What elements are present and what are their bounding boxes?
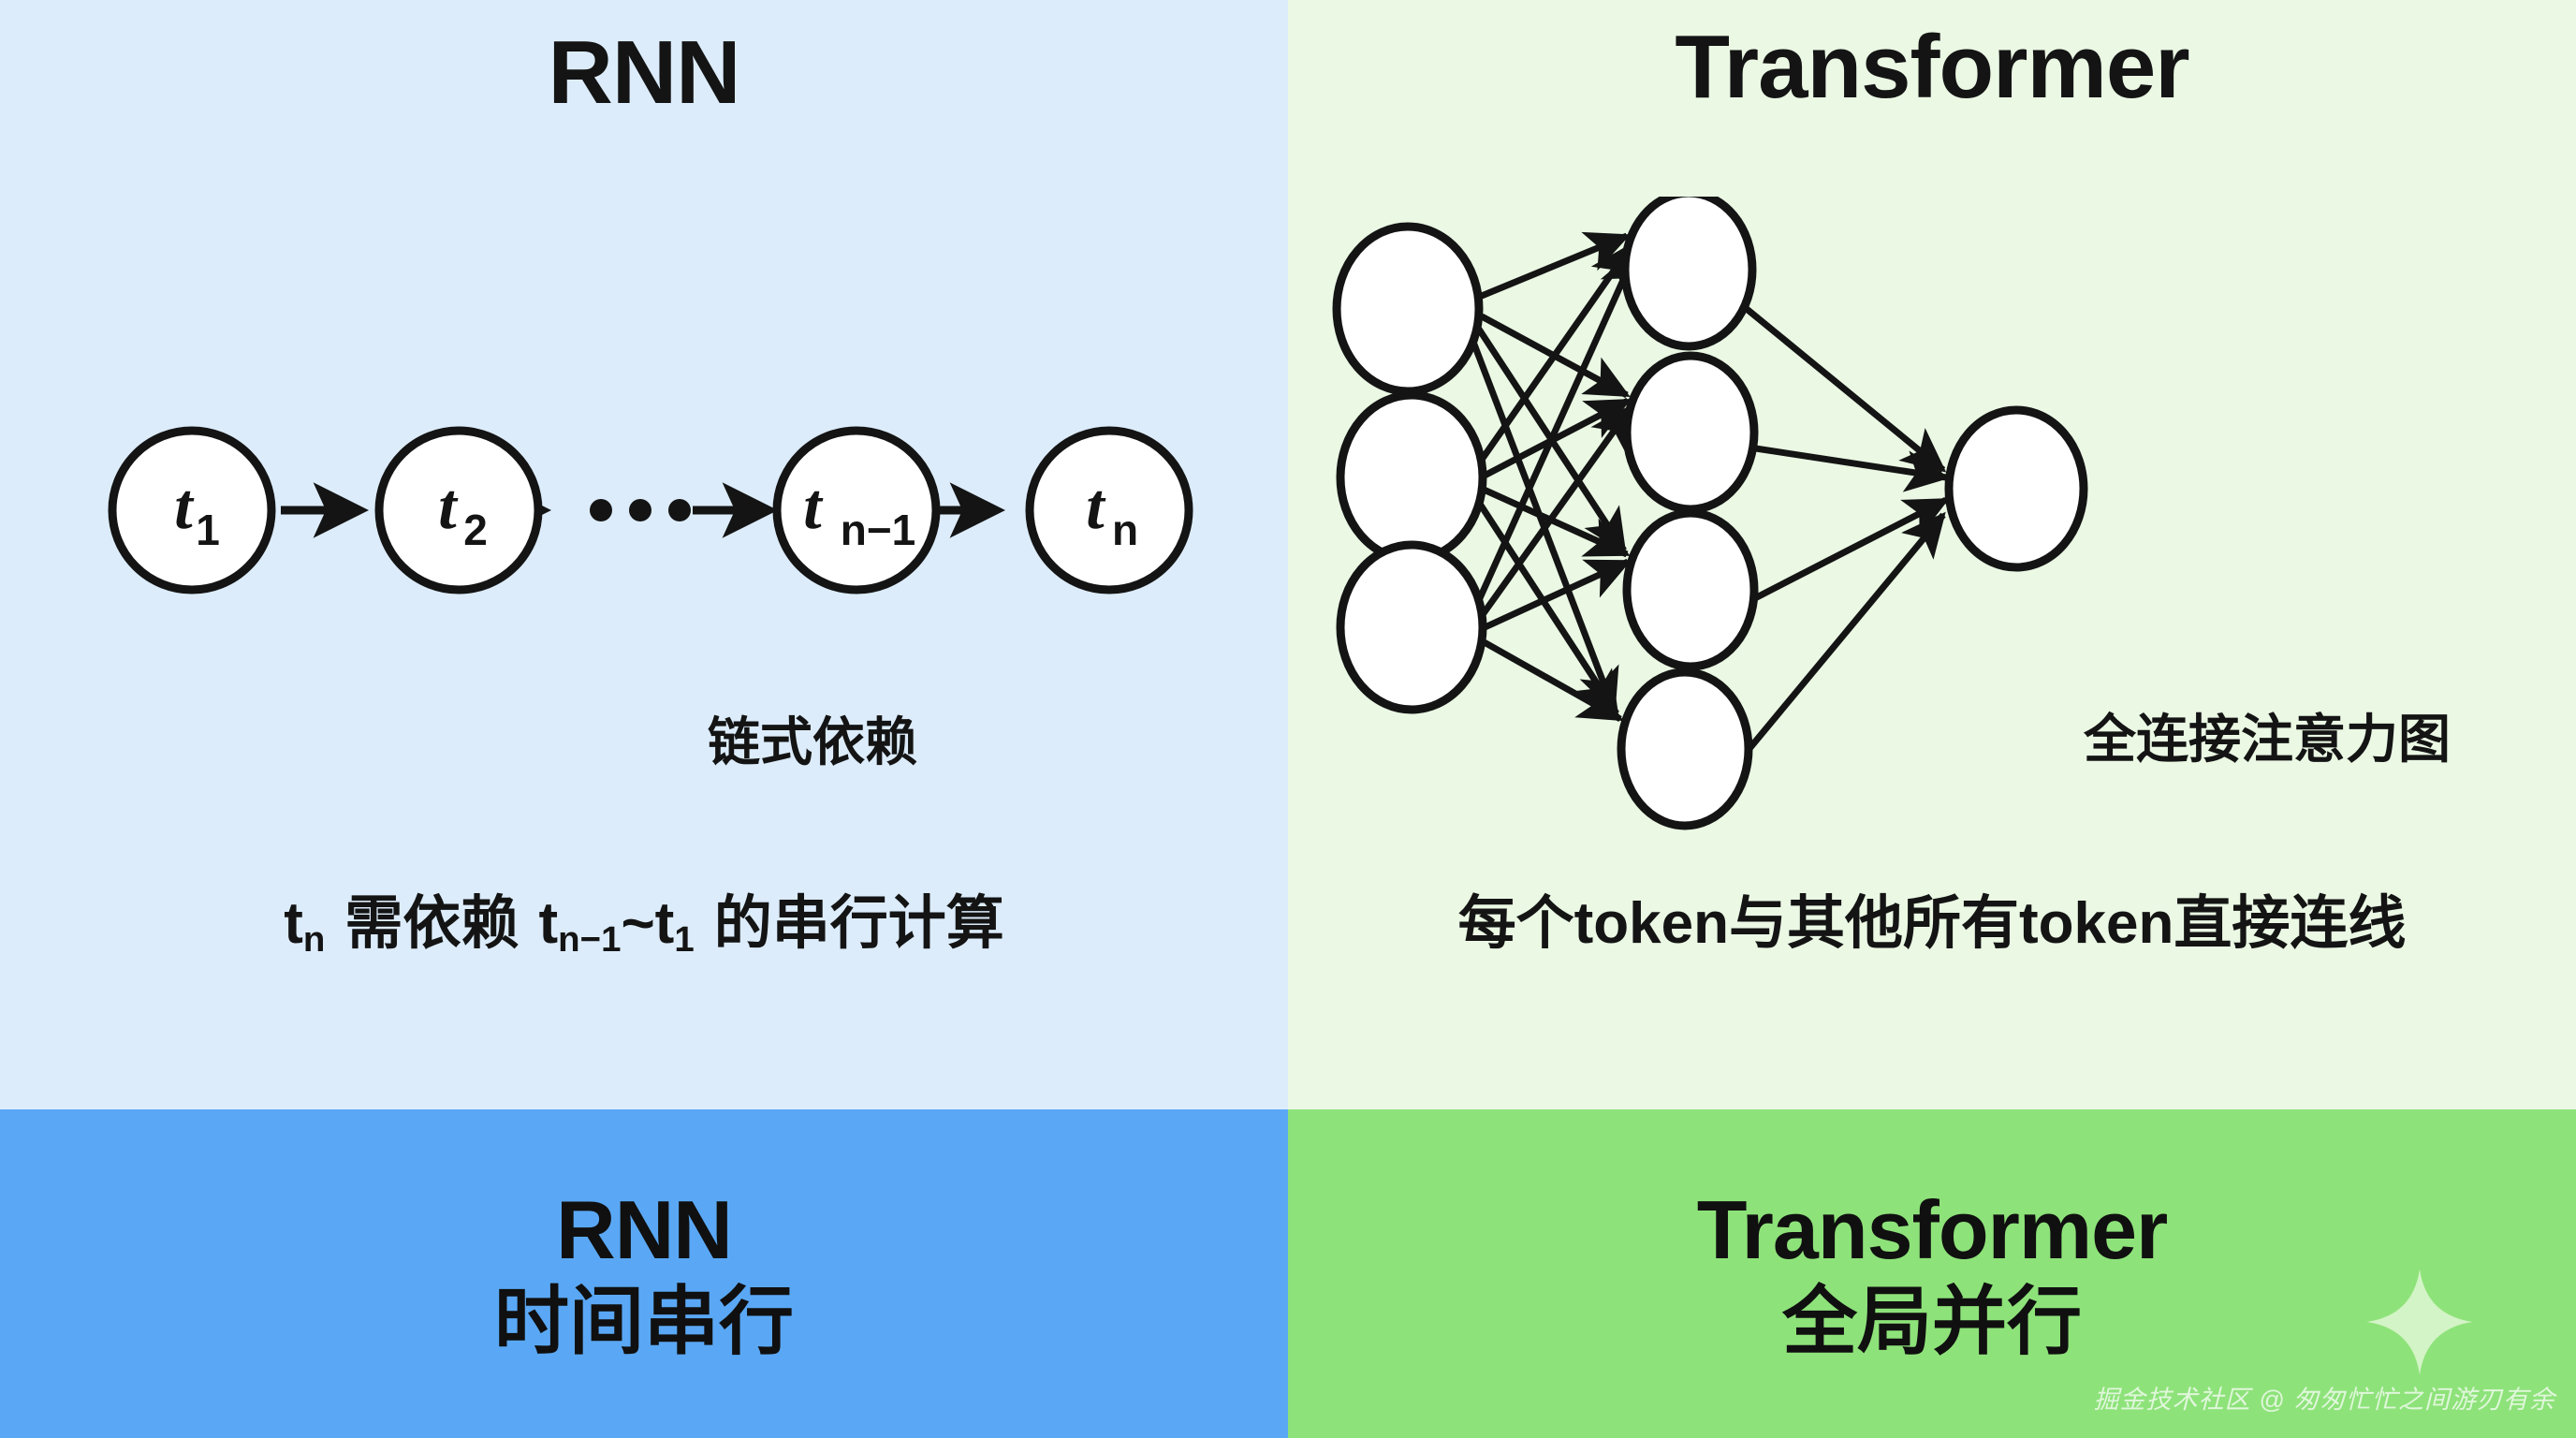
svg-text:t: t [803,471,824,543]
output-node-1 [1949,410,2084,567]
watermark-credit: 掘金技术社区 @ 匆匆忙忙之间游刃有余 [2094,1379,2555,1416]
caption-tn-sub: n [303,919,325,960]
banner-transformer: Transformer 全局并行 掘金技术社区 @ 匆匆忙忙之间游刃有余 [1288,1109,2576,1438]
caption-to-base: t [655,891,675,956]
caption-tail: 的串行计算 [714,891,1004,956]
panel-transformer: Transformer [1288,0,2576,1109]
caption-transformer: 每个token与其他所有token直接连线 [1288,875,2576,960]
panel-rnn: RNN [0,0,1288,1109]
caption-token-tn1: tn−1 [539,891,622,956]
svg-text:t: t [438,471,459,543]
banner-rnn: RNN 时间串行 [0,1109,1288,1438]
panel-title-rnn: RNN [0,26,1288,121]
hidden-node-4 [1621,672,1749,826]
comparison-infographic: RNN [0,0,2576,1438]
banner-title-rnn: RNN [556,1189,732,1271]
transformer-input-layer [1337,227,1483,710]
edges-input-to-hidden [1471,236,1636,719]
rnn-node-tn-minus-1: t n−1 [777,431,936,590]
transformer-output-layer [1949,410,2084,567]
svg-text:t: t [174,471,195,543]
sparkle-icon [2364,1267,2475,1377]
input-node-3 [1340,545,1483,710]
rnn-chain-diagram: t 1 t 2 t n−1 [0,374,1288,646]
svg-text:t: t [1086,471,1106,543]
input-node-1 [1337,227,1479,391]
banner-subtitle-rnn: 时间串行 [494,1284,794,1359]
caption-mid: 需依赖 [344,891,519,956]
comparison-panels: RNN [0,0,2576,1109]
rnn-node-t2: t 2 [379,431,538,590]
caption-tn-base: t [284,891,303,956]
input-node-2 [1340,395,1483,560]
svg-text:n−1: n−1 [841,506,916,554]
transformer-hidden-layer [1621,197,1754,826]
caption-from-base: t [539,891,559,956]
caption-to-sub: 1 [674,919,694,960]
caption-token-t1: t1 [655,891,695,956]
panel-title-transformer: Transformer [1288,21,2576,115]
caption-token-tn: tn [284,891,325,956]
label-full-attention-graph: 全连接注意力图 [2084,697,2570,773]
banner-title-transformer: Transformer [1697,1189,2168,1271]
banner-subtitle-transformer: 全局并行 [1782,1284,2082,1359]
hidden-node-1 [1625,197,1752,346]
summary-banners: RNN 时间串行 Transformer 全局并行 掘金技术社区 @ 匆匆忙忙之… [0,1109,2576,1438]
edges-hidden-to-output [1747,309,1946,751]
rnn-ellipsis-dots [590,499,691,521]
caption-tilde: ~ [621,891,654,956]
caption-rnn: tn需依赖tn−1~t1的串行计算 [0,875,1288,960]
svg-text:n: n [1112,506,1138,554]
rnn-node-t1: t 1 [112,431,271,590]
label-chain-dependency: 链式依赖 [0,700,1288,776]
caption-from-sub: n−1 [558,919,621,960]
hidden-node-2 [1627,356,1754,509]
rnn-node-tn: t n [1030,431,1189,590]
svg-text:1: 1 [196,506,220,554]
svg-text:2: 2 [463,506,488,554]
hidden-node-3 [1627,513,1754,667]
